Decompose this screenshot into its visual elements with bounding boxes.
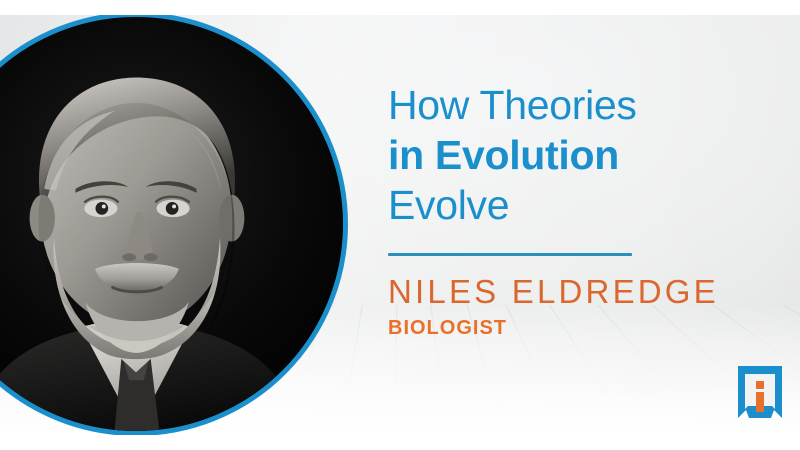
title-line-2: in Evolution xyxy=(388,130,788,180)
speaker-title-card: How Theories in Evolution Evolve NILES E… xyxy=(0,0,800,450)
speaker-portrait-icon xyxy=(0,17,343,431)
letterbox-top xyxy=(0,0,800,15)
title-block: How Theories in Evolution Evolve NILES E… xyxy=(388,80,788,340)
letterbox-bottom xyxy=(0,435,800,450)
interview-brand-logo-icon xyxy=(738,366,782,418)
avatar xyxy=(0,12,348,436)
brand-logo[interactable] xyxy=(738,366,782,418)
page-title: How Theories in Evolution Evolve xyxy=(388,80,788,230)
avatar-ring xyxy=(0,12,348,436)
speaker-name: NILES ELDREDGE xyxy=(388,273,788,311)
title-line-3: Evolve xyxy=(388,180,788,230)
title-line-1: How Theories xyxy=(388,80,788,130)
divider xyxy=(388,253,632,256)
speaker-role: BIOLOGIST xyxy=(388,317,788,340)
